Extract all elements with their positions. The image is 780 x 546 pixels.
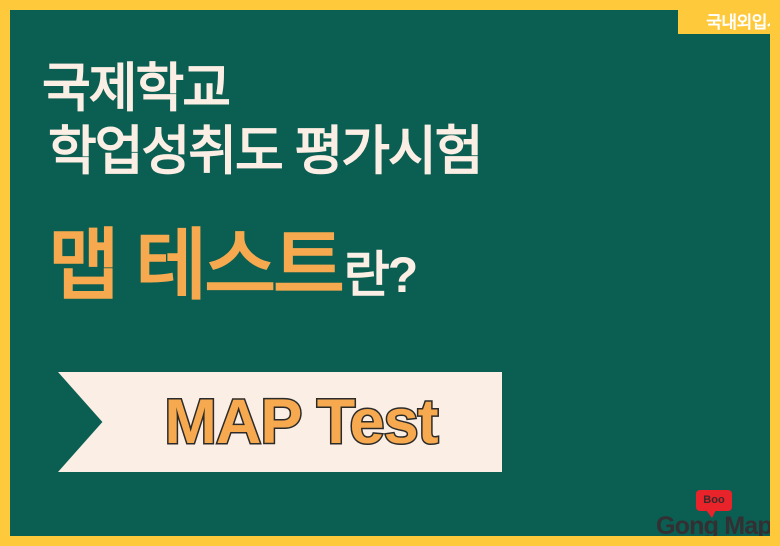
poster-body: 국내외입시 국제학교 학업성취도 평가시험 맵 테스트 란? MAP Test …: [10, 10, 770, 536]
top-right-badge-label: 국내외입시: [706, 14, 770, 31]
speech-bubble-label: Boo: [703, 495, 724, 506]
subheading-block: 맵 테스트 란?: [48, 225, 416, 307]
subheading-main: 맵 테스트: [48, 225, 342, 307]
gongmap-logo: Boo Gong Map: [656, 490, 768, 536]
heading-block: 국제학교 학업성취도 평가시험: [42, 58, 682, 183]
logo-wordmark: Gong Map: [656, 514, 768, 536]
speech-bubble-icon: Boo: [696, 490, 732, 511]
top-right-badge: 국내외입시: [678, 10, 770, 34]
poster-frame: 국내외입시 국제학교 학업성취도 평가시험 맵 테스트 란? MAP Test …: [0, 0, 780, 546]
subheading-tail: 란?: [344, 249, 417, 302]
heading-line-1: 국제학교: [42, 58, 682, 121]
heading-line-2: 학업성취도 평가시험: [48, 121, 682, 184]
map-test-ribbon-label: MAP Test: [164, 391, 437, 454]
map-test-ribbon: MAP Test: [58, 372, 502, 472]
